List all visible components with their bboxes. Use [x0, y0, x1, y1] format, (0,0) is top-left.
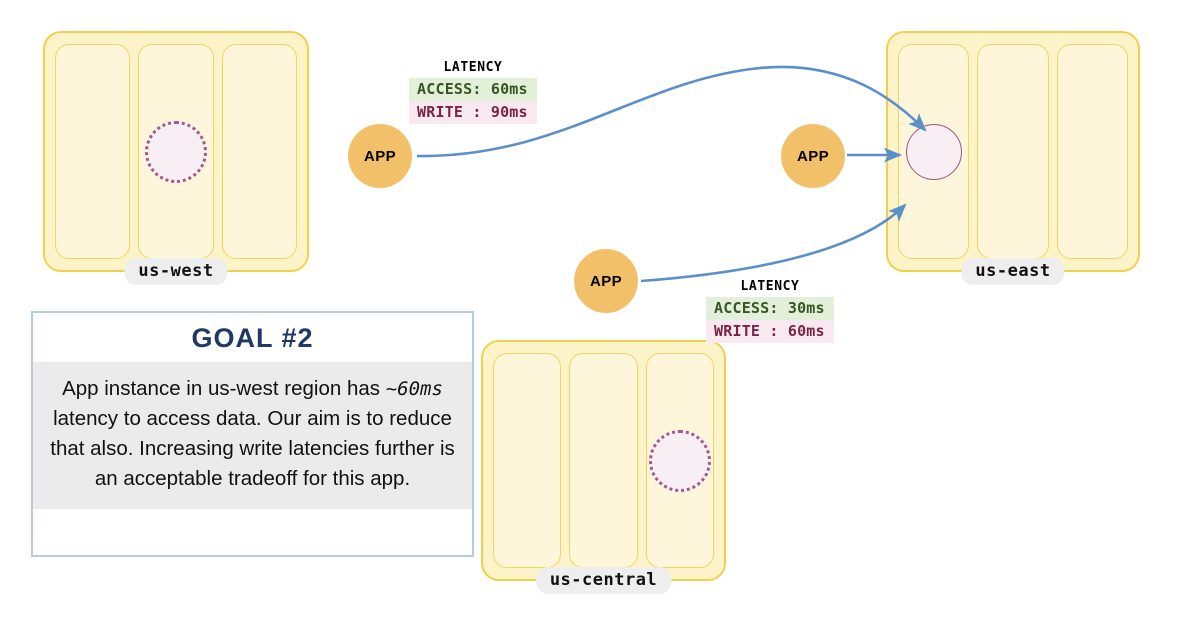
region-us-west[interactable]: us-west	[43, 31, 309, 272]
app-node-label: APP	[590, 273, 622, 290]
latency-card-title: LATENCY	[409, 60, 537, 75]
app-node-us-west[interactable]: APP	[348, 124, 412, 188]
zone-us-west-3	[222, 44, 297, 259]
goal-body: App instance in us-west region has ~60ms…	[33, 362, 472, 509]
zone-us-east-3	[1057, 44, 1128, 259]
latency-card-title: LATENCY	[706, 279, 834, 294]
goal-card: GOAL #2 App instance in us-west region h…	[31, 311, 474, 557]
app-node-label: APP	[364, 148, 396, 165]
zone-us-central-2	[569, 353, 637, 568]
app-node-label: APP	[797, 148, 829, 165]
app-node-us-central[interactable]: APP	[574, 249, 638, 313]
region-us-east[interactable]: us-east	[886, 31, 1140, 272]
edge-central-to-east	[641, 205, 905, 281]
zone-us-west-2	[138, 44, 213, 259]
latency-access-row: ACCESS: 30ms	[706, 297, 834, 320]
latency-write-row: WRITE : 60ms	[706, 320, 834, 343]
goal-body-prefix: App instance in us-west region has	[62, 377, 386, 400]
latency-access-row: ACCESS: 60ms	[409, 78, 537, 101]
latency-card-us-west: LATENCY ACCESS: 60ms WRITE : 90ms	[409, 60, 537, 124]
goal-body-emphasis: ~60ms	[386, 378, 443, 400]
data-replica-us-west	[145, 121, 207, 183]
zone-us-central-1	[493, 353, 561, 568]
goal-body-suffix: latency to access data. Our aim is to re…	[50, 407, 455, 490]
data-replica-us-central	[649, 430, 711, 492]
latency-write-row: WRITE : 90ms	[409, 101, 537, 124]
zone-us-west-1	[55, 44, 130, 259]
data-leader-us-east	[906, 124, 962, 180]
zone-us-central-3	[646, 353, 714, 568]
goal-title: GOAL #2	[33, 313, 472, 362]
latency-card-us-central: LATENCY ACCESS: 30ms WRITE : 60ms	[706, 279, 834, 343]
zone-us-east-2	[977, 44, 1048, 259]
diagram-canvas: us-west us-east us-central APP APP APP L…	[0, 0, 1182, 618]
region-label-us-central: us-central	[536, 567, 671, 594]
zone-us-east-1	[898, 44, 969, 259]
region-us-central[interactable]: us-central	[481, 340, 726, 581]
app-node-us-east[interactable]: APP	[781, 124, 845, 188]
region-label-us-east: us-east	[961, 258, 1064, 285]
region-label-us-west: us-west	[124, 258, 227, 285]
